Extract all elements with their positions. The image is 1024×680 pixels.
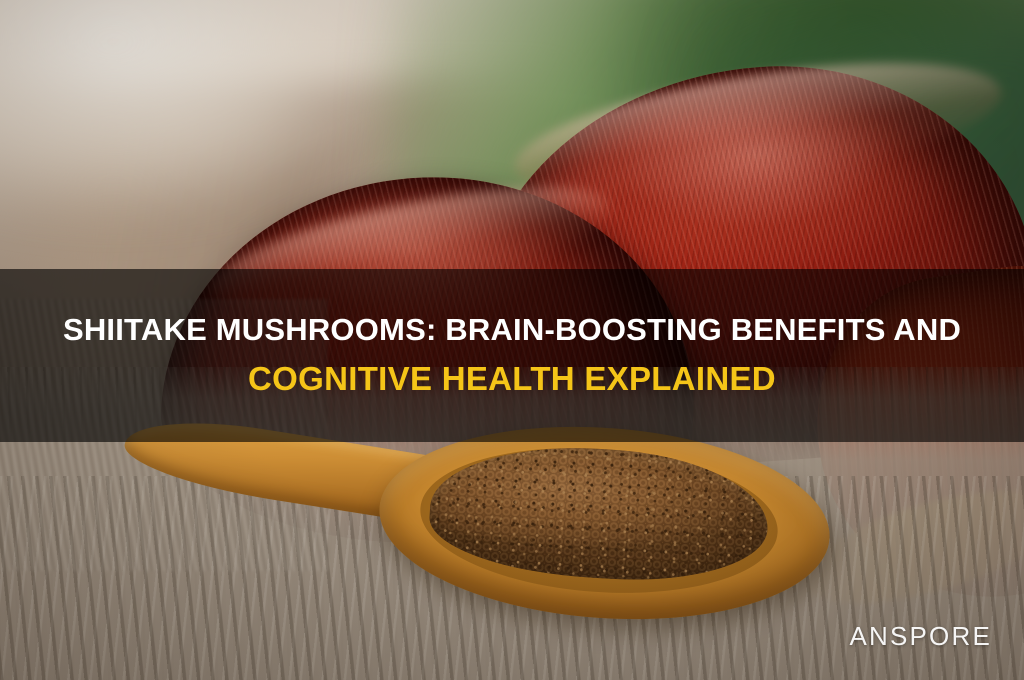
hero-banner: Shiitake Mushrooms: Brain-Boosting Benef… xyxy=(0,0,1024,680)
site-watermark: Anspore xyxy=(849,621,992,652)
headline-line-2: Cognitive Health Explained xyxy=(60,362,964,397)
title-overlay-band: Shiitake Mushrooms: Brain-Boosting Benef… xyxy=(0,269,1024,442)
headline-line-1: Shiitake Mushrooms: Brain-Boosting Benef… xyxy=(60,314,964,347)
